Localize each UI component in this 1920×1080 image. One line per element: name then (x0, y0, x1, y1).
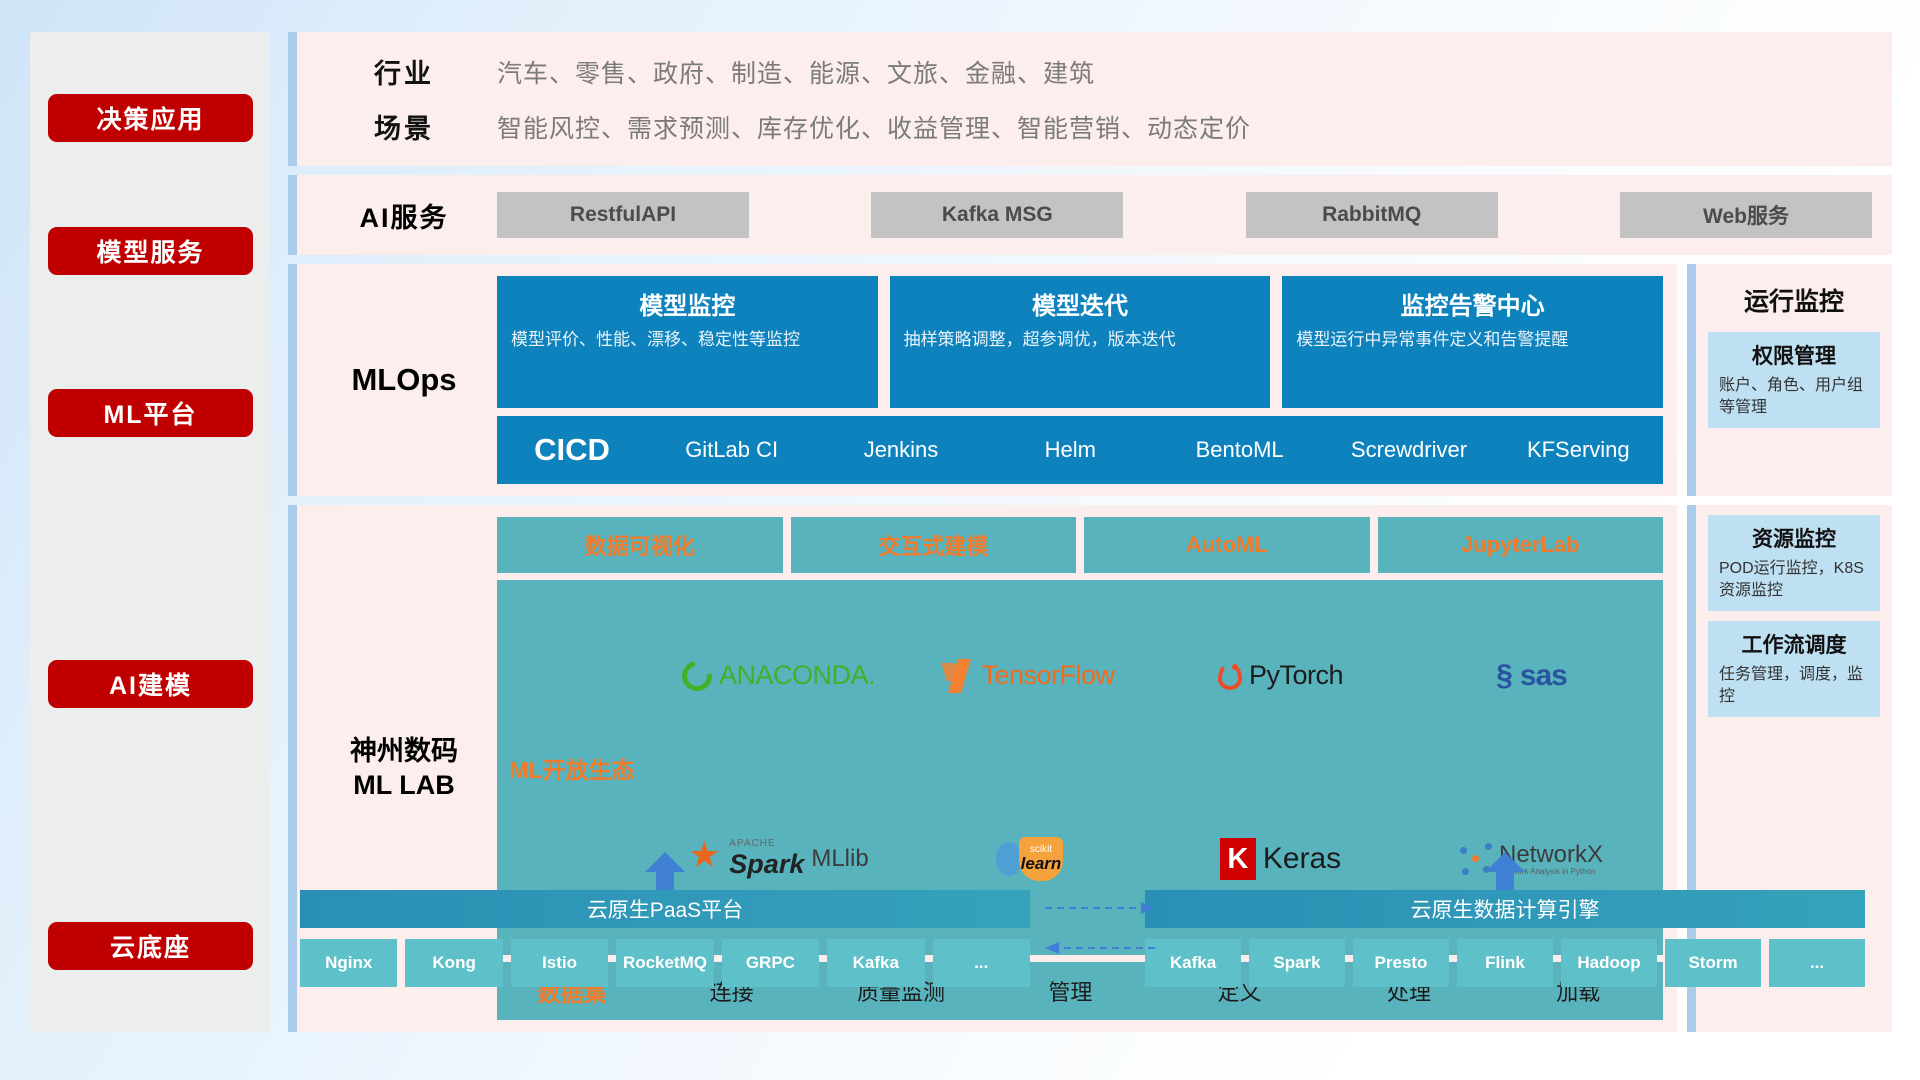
scenario-key: 场景 (311, 107, 497, 146)
monitor-card-permission[interactable]: 权限管理 账户、角色、用户组等管理 (1708, 332, 1880, 428)
lab-tool-automl[interactable]: AutoML (1084, 517, 1370, 573)
tensorflow-icon (944, 659, 974, 693)
sas-logo: § sas (1496, 659, 1567, 693)
industry-value: 汽车、零售、政府、制造、能源、文旅、金融、建筑 (497, 54, 1095, 90)
stage-label: ML平台 (103, 395, 197, 431)
cloud-chip-more[interactable]: ... (933, 939, 1030, 987)
tensorflow-logo: TensorFlow (944, 659, 1114, 693)
pytorch-icon (1218, 662, 1242, 690)
cicd-item-list: GitLab CI Jenkins Helm BentoML Screwdriv… (647, 435, 1663, 465)
apache-label: APACHE (729, 838, 804, 849)
anaconda-icon (676, 655, 718, 697)
cicd-item-helm[interactable]: Helm (986, 435, 1155, 465)
anaconda-label: ANACONDA. (719, 660, 875, 691)
anaconda-logo: ANACONDA. (682, 660, 875, 691)
card-body: 账户、角色、用户组等管理 (1719, 375, 1869, 418)
stage-chip-decision[interactable]: 决策应用 (48, 94, 253, 142)
arrow-up-paas (645, 852, 685, 892)
cloud-chip-istio[interactable]: Istio (511, 939, 608, 987)
stage-chip-model-service[interactable]: 模型服务 (48, 227, 253, 275)
card-body: 任务管理，调度，监控 (1719, 664, 1869, 707)
cicd-item-kfserving[interactable]: KFServing (1494, 435, 1663, 465)
cloud-chip-kong[interactable]: Kong (405, 939, 502, 987)
stage-label: AI建模 (109, 666, 192, 702)
pytorch-logo: PyTorch (1218, 660, 1343, 691)
cloud-paas-column: 云原生PaaS平台 Nginx Kong Istio RocketMQ GRPC… (300, 890, 1030, 987)
mlops-card-model-monitoring[interactable]: 模型监控 模型评价、性能、漂移、稳定性等监控 (497, 276, 878, 408)
stage-label: 决策应用 (96, 100, 204, 136)
cloud-data-engine-chip-list: Kafka Spark Presto Flink Hadoop Storm ..… (1145, 939, 1865, 987)
industry-row: 行业 汽车、零售、政府、制造、能源、文旅、金融、建筑 (311, 52, 1878, 91)
cloud-data-engine-column: 云原生数据计算引擎 Kafka Spark Presto Flink Hadoo… (1145, 890, 1865, 987)
scenario-value: 智能风控、需求预测、库存优化、收益管理、智能营销、动态定价 (497, 109, 1251, 145)
cloud-chip-more-2[interactable]: ... (1769, 939, 1865, 987)
card-desc: 模型运行中异常事件定义和告警提醒 (1296, 329, 1649, 352)
mlops-label: MLOps (311, 276, 497, 484)
bidirectional-link-arrows (1045, 890, 1155, 970)
mlops-card-alert-center[interactable]: 监控告警中心 模型运行中异常事件定义和告警提醒 (1282, 276, 1663, 408)
stage-label: 云底座 (110, 928, 191, 964)
cloud-paas-chip-list: Nginx Kong Istio RocketMQ GRPC Kafka ... (300, 939, 1030, 987)
cloud-chip-presto[interactable]: Presto (1353, 939, 1449, 987)
card-title: 模型迭代 (904, 286, 1257, 321)
stage-rail: 决策应用 模型服务 ML平台 AI建模 云底座 (30, 32, 270, 1032)
cloud-chip-kafka[interactable]: Kafka (827, 939, 924, 987)
cloud-chip-nginx[interactable]: Nginx (300, 939, 397, 987)
cicd-label: CICD (497, 432, 647, 468)
mlops-band: MLOps 模型监控 模型评价、性能、漂移、稳定性等监控 模型迭代 抽样策略调整… (288, 264, 1677, 496)
cloud-data-engine-header: 云原生数据计算引擎 (1145, 890, 1865, 928)
mlops-card-model-iteration[interactable]: 模型迭代 抽样策略调整，超参调优，版本迭代 (890, 276, 1271, 408)
cloud-chip-spark[interactable]: Spark (1249, 939, 1345, 987)
pytorch-label: PyTorch (1249, 660, 1343, 691)
industry-scenario-band: 行业 汽车、零售、政府、制造、能源、文旅、金融、建筑 场景 智能风控、需求预测、… (288, 32, 1892, 166)
stage-label: 模型服务 (96, 233, 204, 269)
cicd-item-screwdriver[interactable]: Screwdriver (1324, 435, 1493, 465)
cicd-item-gitlab-ci[interactable]: GitLab CI (647, 435, 816, 465)
cloud-chip-kafka-2[interactable]: Kafka (1145, 939, 1241, 987)
cloud-base-section: 云原生PaaS平台 Nginx Kong Istio RocketMQ GRPC… (300, 852, 1865, 1030)
cloud-chip-hadoop[interactable]: Hadoop (1561, 939, 1657, 987)
card-desc: 模型评价、性能、漂移、稳定性等监控 (511, 329, 864, 352)
mlops-row: MLOps 模型监控 模型评价、性能、漂移、稳定性等监控 模型迭代 抽样策略调整… (288, 264, 1892, 496)
cloud-paas-header: 云原生PaaS平台 (300, 890, 1030, 928)
scenario-row: 场景 智能风控、需求预测、库存优化、收益管理、智能营销、动态定价 (311, 107, 1878, 146)
stage-chip-cloud-base[interactable]: 云底座 (48, 922, 253, 970)
card-title: 模型监控 (511, 286, 864, 321)
ml-ecosystem-label: ML开放生态 (497, 751, 647, 785)
stage-chip-ml-platform[interactable]: ML平台 (48, 389, 253, 437)
ml-lab-label-line1: 神州数码 (350, 735, 458, 769)
monitor-card-workflow[interactable]: 工作流调度 任务管理，调度，监控 (1708, 621, 1880, 717)
cicd-item-bentoml[interactable]: BentoML (1155, 435, 1324, 465)
arrow-up-data-engine (1485, 852, 1525, 892)
lab-tool-jupyterlab[interactable]: JupyterLab (1378, 517, 1664, 573)
cloud-chip-flink[interactable]: Flink (1457, 939, 1553, 987)
sas-icon: § (1496, 659, 1513, 693)
ai-service-chip-list: RestfulAPI Kafka MSG RabbitMQ Web服务 (497, 192, 1878, 238)
lab-tool-interactive-modeling[interactable]: 交互式建模 (791, 517, 1077, 573)
ai-service-chip-restfulapi[interactable]: RestfulAPI (497, 192, 749, 238)
card-head: 权限管理 (1719, 340, 1869, 370)
cloud-chip-grpc[interactable]: GRPC (722, 939, 819, 987)
card-body: POD运行监控，K8S资源监控 (1719, 558, 1869, 601)
sas-label: sas (1520, 659, 1567, 693)
tensorflow-label: TensorFlow (981, 660, 1114, 691)
industry-key: 行业 (311, 52, 497, 91)
ai-service-label: AI服务 (311, 196, 497, 235)
cicd-bar: CICD GitLab CI Jenkins Helm BentoML Scre… (497, 416, 1663, 484)
ai-service-chip-kafka-msg[interactable]: Kafka MSG (871, 192, 1123, 238)
ai-service-chip-web-service[interactable]: Web服务 (1620, 192, 1872, 238)
mlops-card-list: 模型监控 模型评价、性能、漂移、稳定性等监控 模型迭代 抽样策略调整，超参调优，… (497, 276, 1663, 408)
monitoring-title: 运行监控 (1708, 274, 1880, 322)
ml-lab-label-line2: ML LAB (350, 769, 458, 803)
stage-chip-ai-modeling[interactable]: AI建模 (48, 660, 253, 708)
lab-tool-data-visualization[interactable]: 数据可视化 (497, 517, 783, 573)
card-head: 资源监控 (1719, 523, 1869, 553)
card-head: 工作流调度 (1719, 629, 1869, 659)
cloud-chip-storm[interactable]: Storm (1665, 939, 1761, 987)
lab-tool-list: 数据可视化 交互式建模 AutoML JupyterLab (497, 517, 1663, 573)
cloud-chip-rocketmq[interactable]: RocketMQ (616, 939, 713, 987)
card-desc: 抽样策略调整，超参调优，版本迭代 (904, 329, 1257, 352)
monitor-card-resource[interactable]: 资源监控 POD运行监控，K8S资源监控 (1708, 515, 1880, 611)
cicd-item-jenkins[interactable]: Jenkins (816, 435, 985, 465)
ai-service-chip-rabbitmq[interactable]: RabbitMQ (1246, 192, 1498, 238)
card-title: 监控告警中心 (1296, 286, 1649, 321)
monitoring-rail: 运行监控 权限管理 账户、角色、用户组等管理 (1687, 264, 1892, 496)
ai-service-band: AI服务 RestfulAPI Kafka MSG RabbitMQ Web服务 (288, 175, 1892, 255)
